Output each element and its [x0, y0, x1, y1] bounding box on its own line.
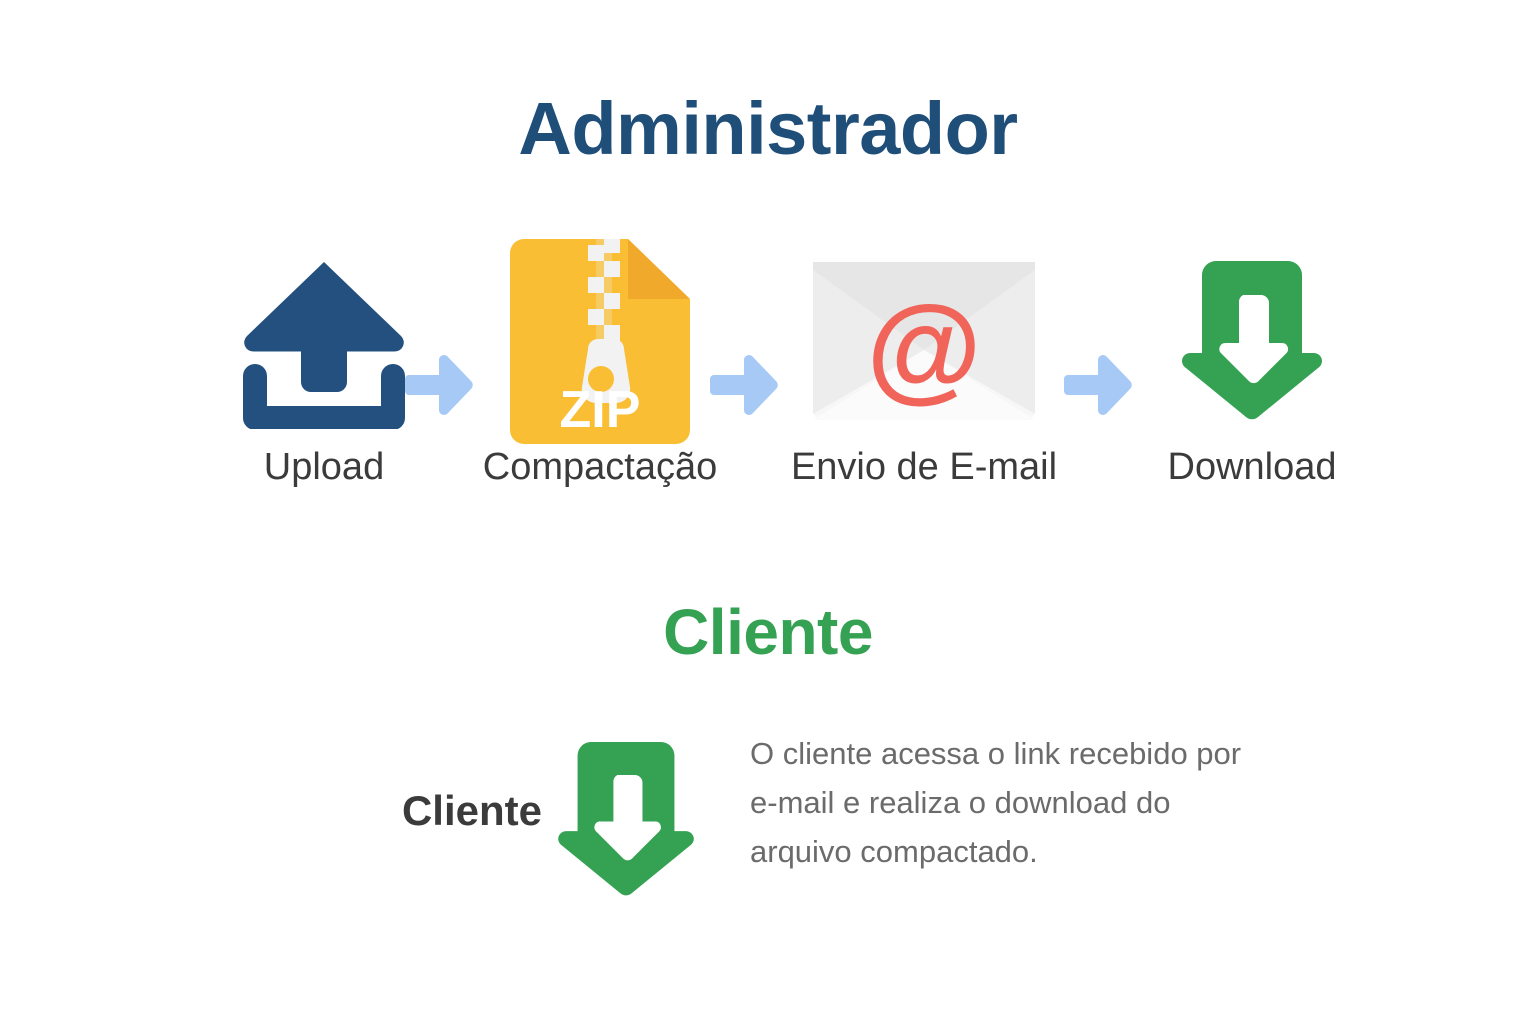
- administrador-heading: Administrador: [0, 92, 1536, 166]
- download-icon: [556, 742, 696, 897]
- client-download-icon-wrap[interactable]: [556, 742, 696, 897]
- zip-icon-wrap: ZIP: [510, 236, 690, 446]
- flow-arrow-3: [1064, 354, 1134, 416]
- client-description: O cliente acessa o link recebido por e-m…: [750, 730, 1270, 877]
- flow-arrow-2: [710, 354, 780, 416]
- at-symbol-icon: @: [866, 282, 981, 414]
- flow-step-label: Download: [1168, 448, 1337, 486]
- flow-step-download[interactable]: Download: [1142, 236, 1362, 526]
- flow-step-envio-de-email[interactable]: @ Envio de E-mail: [814, 236, 1034, 526]
- email-envelope-icon: @: [813, 262, 1035, 420]
- flow-step-label: Compactação: [483, 448, 717, 486]
- flow-arrow-1: [405, 354, 475, 416]
- client-row: Cliente O cliente acessa o link recebido…: [0, 730, 1536, 910]
- right-arrow-icon: [405, 354, 475, 416]
- right-arrow-icon: [1064, 354, 1134, 416]
- right-arrow-icon: [710, 354, 780, 416]
- flow-step-label: Envio de E-mail: [791, 448, 1057, 486]
- download-icon-wrap: [1182, 236, 1322, 446]
- diagram-canvas: Administrador Upload: [0, 0, 1536, 1024]
- client-label: Cliente: [342, 790, 542, 832]
- zip-file-type-text: ZIP: [560, 381, 641, 439]
- zip-file-icon: ZIP: [510, 239, 690, 444]
- email-icon-wrap: @: [813, 236, 1035, 446]
- admin-flow-row: Upload: [0, 236, 1536, 526]
- download-icon: [1182, 261, 1322, 421]
- cliente-heading: Cliente: [0, 600, 1536, 664]
- flow-step-upload[interactable]: Upload: [214, 236, 434, 526]
- flow-step-label: Upload: [264, 448, 384, 486]
- upload-icon-wrap: [239, 236, 409, 446]
- flow-step-compactacao[interactable]: ZIP Compactação: [490, 236, 710, 526]
- upload-icon: [239, 254, 409, 429]
